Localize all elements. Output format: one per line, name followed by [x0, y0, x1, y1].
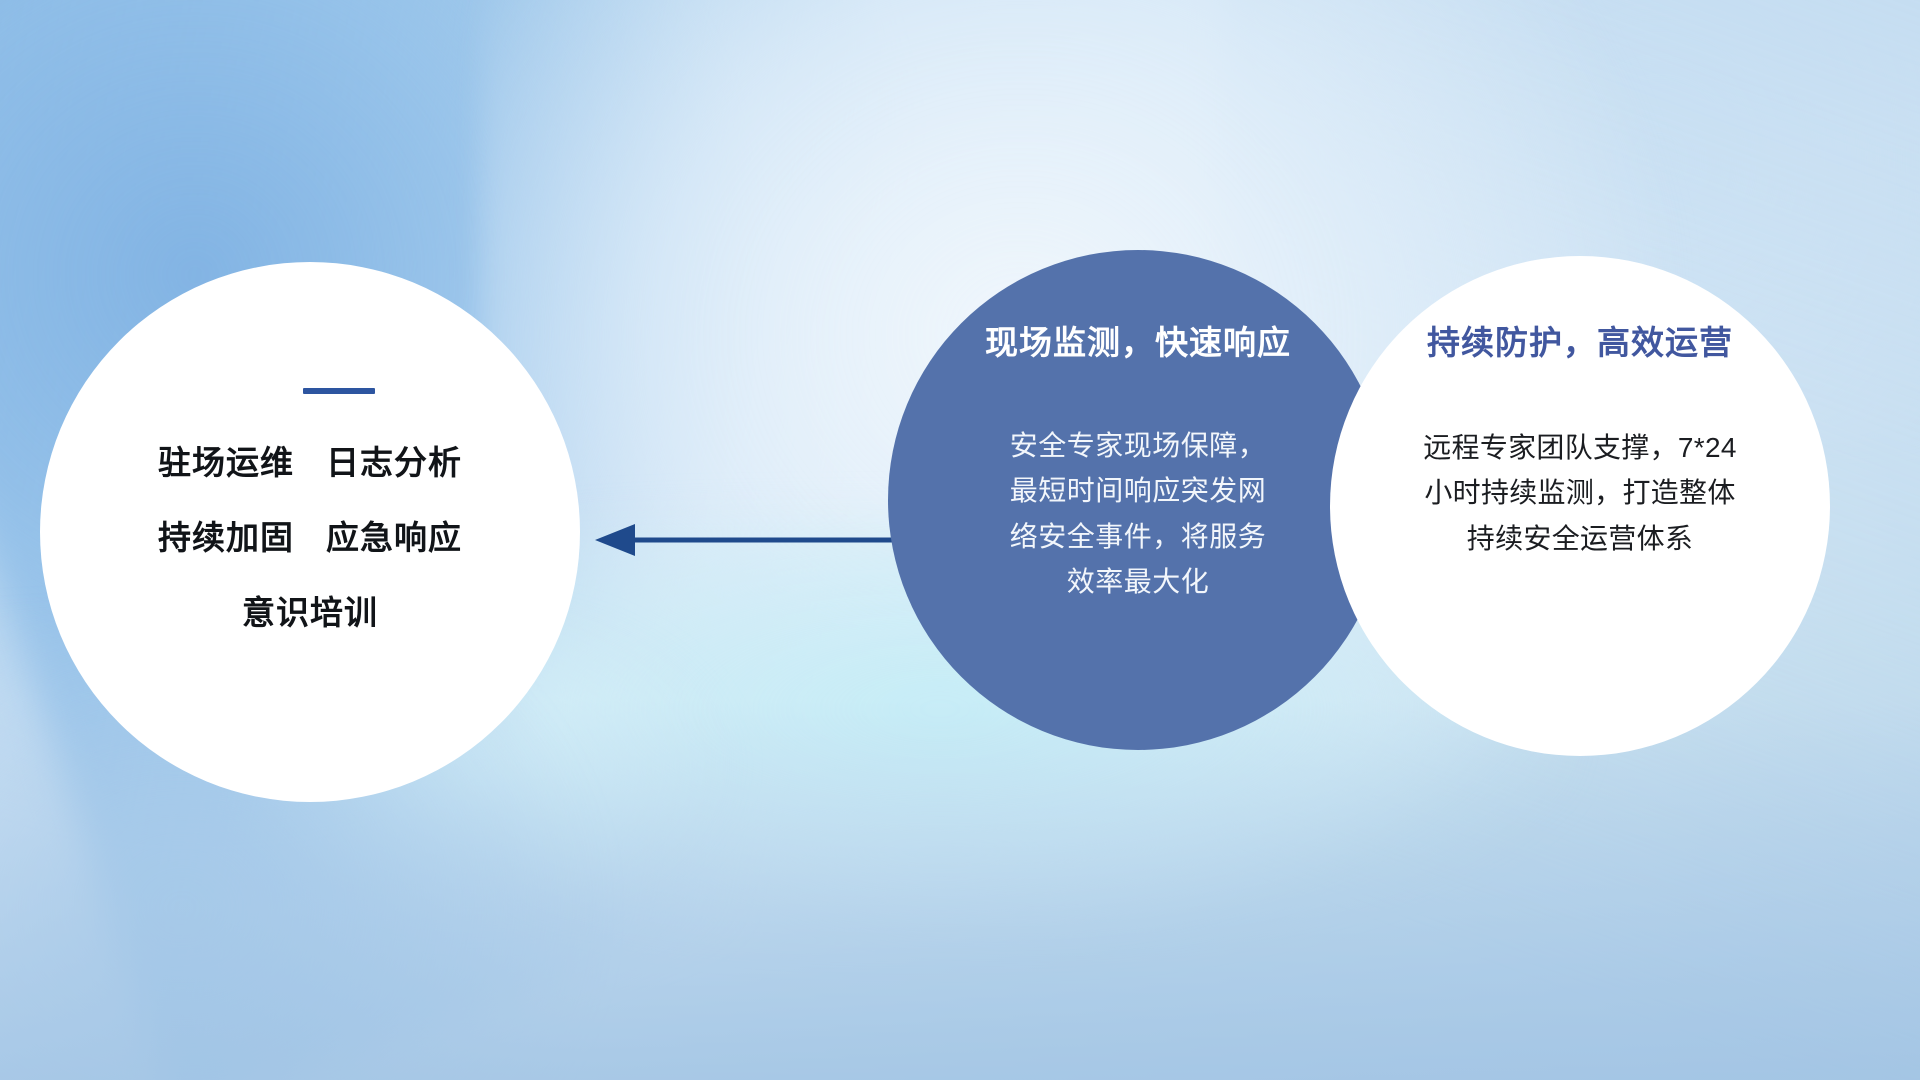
capability-tag: 意识培训 [242, 594, 378, 631]
arrow-left-icon [595, 515, 915, 565]
capability-tag: 持续加固 [158, 519, 294, 556]
body-line: 络安全事件，将服务 [973, 514, 1303, 559]
middle-card-title: 现场监测，快速响应 [985, 326, 1291, 359]
capability-circle-right[interactable]: 持续防护，高效运营 远程专家团队支撑，7*24 小时持续监测，打造整体 持续安全… [1330, 256, 1830, 756]
capability-tag: 日志分析 [326, 444, 462, 481]
capability-circle-left[interactable]: 驻场运维日志分析 持续加固应急响应 意识培训 [40, 262, 580, 802]
middle-card-body: 安全专家现场保障， 最短时间响应突发网 络安全事件，将服务 效率最大化 [973, 423, 1303, 604]
right-card-title: 持续防护，高效运营 [1427, 326, 1733, 359]
dash-accent-icon [303, 388, 375, 394]
body-line: 安全专家现场保障， [973, 423, 1303, 468]
body-line: 持续安全运营体系 [1385, 516, 1775, 561]
body-line: 效率最大化 [973, 559, 1303, 604]
right-card-body: 远程专家团队支撑，7*24 小时持续监测，打造整体 持续安全运营体系 [1385, 425, 1775, 561]
capability-tag: 应急响应 [326, 519, 462, 556]
body-line: 最短时间响应突发网 [973, 468, 1303, 513]
body-line: 小时持续监测，打造整体 [1385, 470, 1775, 515]
capability-line-1: 驻场运维日志分析 [158, 446, 462, 479]
capability-line-2: 持续加固应急响应 [158, 521, 462, 554]
capability-circle-middle[interactable]: 现场监测，快速响应 安全专家现场保障， 最短时间响应突发网 络安全事件，将服务 … [888, 250, 1388, 750]
capability-line-3: 意识培训 [242, 596, 378, 629]
body-line: 远程专家团队支撑，7*24 [1385, 425, 1775, 470]
capability-tag: 驻场运维 [158, 444, 294, 481]
slide-canvas: 驻场运维日志分析 持续加固应急响应 意识培训 现场监测，快速响应 安全专家现场保… [0, 0, 1920, 1080]
